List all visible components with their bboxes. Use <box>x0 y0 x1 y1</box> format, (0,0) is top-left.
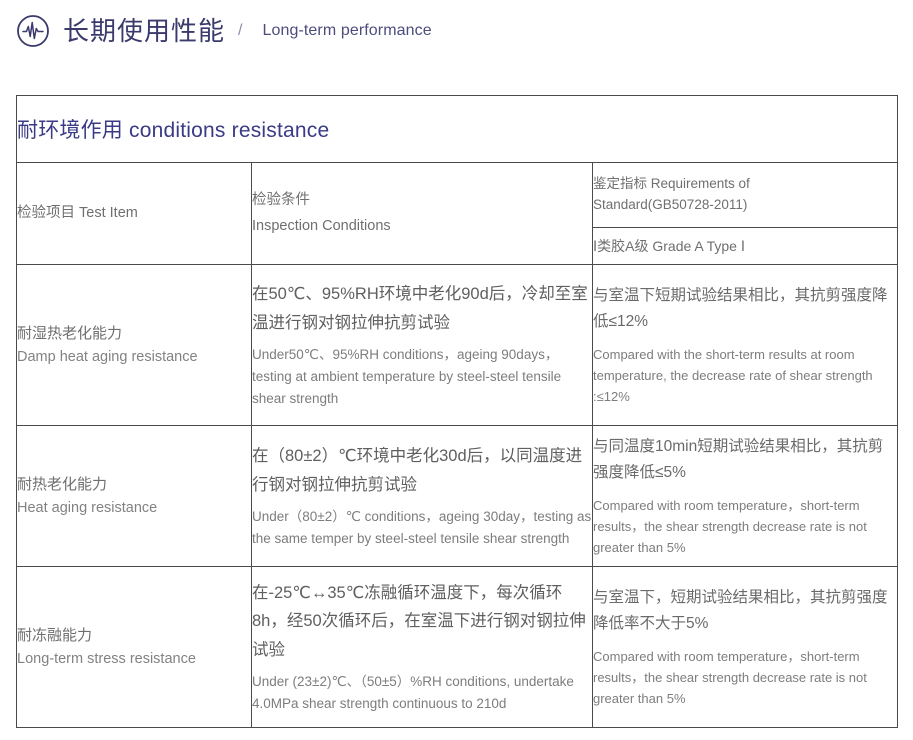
column-header-test-item-label: 检验项目 Test Item <box>17 201 251 226</box>
row-3-item-zh: 耐冻融能力 <box>17 624 251 648</box>
row-1-item-zh: 耐湿热老化能力 <box>17 322 251 346</box>
table-banner-row: 耐环境作用 conditions resistance <box>17 96 898 163</box>
long-term-performance-table: 耐环境作用 conditions resistance 检验项目 Test It… <box>16 95 898 728</box>
row-1-item-en: Damp heat aging resistance <box>17 346 251 368</box>
row-1-req-zh: 与室温下短期试验结果相比，其抗剪强度降低≤12% <box>593 283 897 336</box>
column-header-requirements: 鉴定指标 Requirements of Standard(GB50728-20… <box>593 163 898 228</box>
page-header: 长期使用性能 / Long-term performance <box>16 14 432 48</box>
row-3-req-en: Compared with room temperature，short-ter… <box>593 646 897 709</box>
column-subheader-grade: Ⅰ类胶A级 Grade A Type Ⅰ <box>593 228 898 265</box>
column-header-conditions-zh: 检验条件 <box>252 188 592 213</box>
column-header-conditions-en: Inspection Conditions <box>252 214 592 239</box>
row-3-test-item: 耐冻融能力 Long-term stress resistance <box>17 567 252 728</box>
row-2-conditions: 在（80±2）℃环境中老化30d后，以同温度进行钢对钢拉伸抗剪试验 Under（… <box>252 426 593 567</box>
page-title-zh: 长期使用性能 <box>63 18 225 44</box>
row-2-req-zh: 与同温度10min短期试验结果相比，其抗剪强度降低≤5% <box>593 434 897 487</box>
row-3-conditions: 在-25℃↔35℃冻融循环温度下，每次循环8h，经50次循环后，在室温下进行钢对… <box>252 567 593 728</box>
column-header-test-item: 检验项目 Test Item <box>17 163 252 265</box>
row-2-cond-en: Under（80±2）℃ conditions，ageing 30day，tes… <box>252 506 592 550</box>
row-2-item-en: Heat aging resistance <box>17 497 251 519</box>
row-3-requirements: 与室温下，短期试验结果相比，其抗剪强度降低率不大于5% Compared wit… <box>593 567 898 728</box>
column-header-inspection-conditions: 检验条件 Inspection Conditions <box>252 163 593 265</box>
row-2-req-en: Compared with room temperature，short-ter… <box>593 495 897 558</box>
row-1-requirements: 与室温下短期试验结果相比，其抗剪强度降低≤12% Compared with t… <box>593 265 898 426</box>
row-2-item-zh: 耐热老化能力 <box>17 473 251 497</box>
row-3-item-en: Long-term stress resistance <box>17 648 251 670</box>
row-3-req-zh: 与室温下，短期试验结果相比，其抗剪强度降低率不大于5% <box>593 585 897 638</box>
row-2-test-item: 耐热老化能力 Heat aging resistance <box>17 426 252 567</box>
title-separator: / <box>238 22 242 40</box>
table-banner-text: 耐环境作用 conditions resistance <box>17 119 329 142</box>
row-2-cond-zh: 在（80±2）℃环境中老化30d后，以同温度进行钢对钢拉伸抗剪试验 <box>252 442 592 499</box>
row-1-cond-zh: 在50℃、95%RH环境中老化90d后，冷却至室温进行钢对钢拉伸抗剪试验 <box>252 280 592 337</box>
table-header-row: 检验项目 Test Item 检验条件 Inspection Condition… <box>17 163 898 228</box>
pulse-waveform-icon <box>16 14 50 48</box>
page-title-en: Long-term performance <box>262 23 431 39</box>
table-row: 耐冻融能力 Long-term stress resistance 在-25℃↔… <box>17 567 898 728</box>
column-header-requirements-line2: Standard(GB50728-2011) <box>593 195 897 216</box>
row-1-cond-en: Under50℃、95%RH conditions，ageing 90days，… <box>252 344 592 410</box>
row-3-cond-zh: 在-25℃↔35℃冻融循环温度下，每次循环8h，经50次循环后，在室温下进行钢对… <box>252 579 592 664</box>
table-row: 耐热老化能力 Heat aging resistance 在（80±2）℃环境中… <box>17 426 898 567</box>
row-3-cond-en: Under (23±2)℃、（50±5）%RH conditions, unde… <box>252 671 592 715</box>
table-banner-cell: 耐环境作用 conditions resistance <box>17 96 898 163</box>
table-row: 耐湿热老化能力 Damp heat aging resistance 在50℃、… <box>17 265 898 426</box>
row-1-test-item: 耐湿热老化能力 Damp heat aging resistance <box>17 265 252 426</box>
row-1-conditions: 在50℃、95%RH环境中老化90d后，冷却至室温进行钢对钢拉伸抗剪试验 Und… <box>252 265 593 426</box>
column-header-requirements-line1: 鉴定指标 Requirements of <box>593 174 897 195</box>
row-1-req-en: Compared with the short-term results at … <box>593 344 897 407</box>
row-2-requirements: 与同温度10min短期试验结果相比，其抗剪强度降低≤5% Compared wi… <box>593 426 898 567</box>
